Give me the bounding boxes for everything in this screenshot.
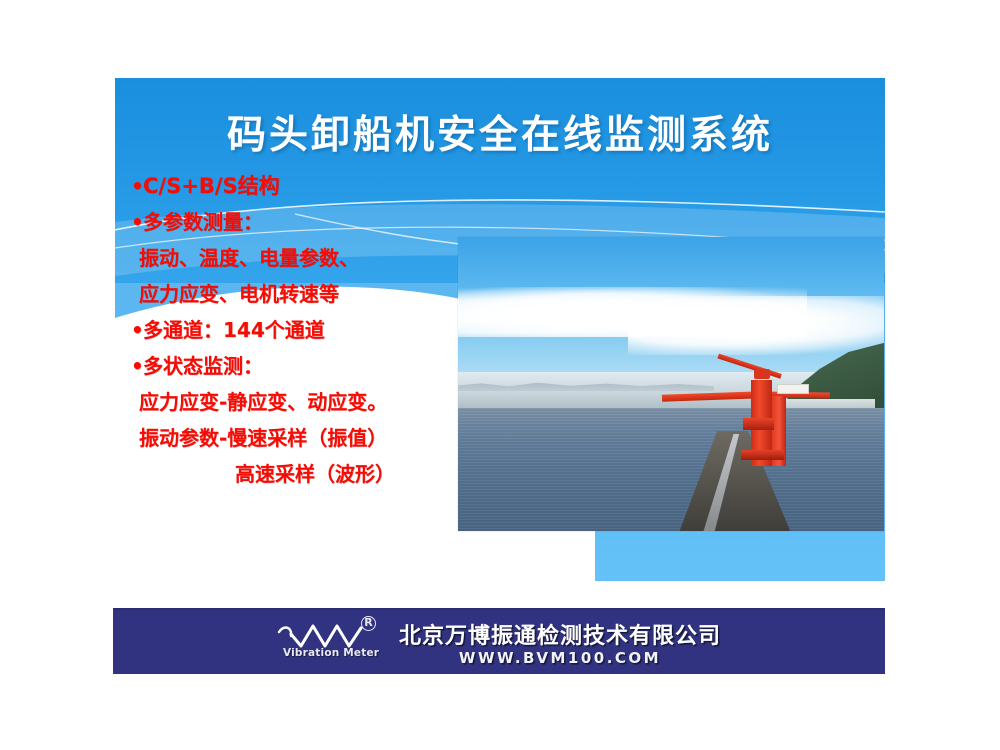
logo-subtitle: Vibration Meter (283, 647, 379, 659)
bullet-list: •C/S+B/S结构 •多参数测量： 振动、温度、电量参数、 应力应变、电机转速… (131, 168, 481, 492)
slide-canvas: 码头卸船机安全在线监测系统 •C/S+B/S结构 •多参数测量： 振动、温度、电… (0, 0, 1000, 750)
company-name-cn: 北京万博振通检测技术有限公司 (399, 618, 721, 650)
crane-name-plate (777, 384, 810, 394)
bullet-label: 多状态监测： (143, 354, 263, 378)
bullet-item-3: 应力应变、电机转速等 (131, 276, 481, 312)
bullet-label: 高速采样（波形） (235, 462, 395, 486)
crane-head (754, 369, 771, 379)
bullet-marker: • (131, 312, 143, 348)
crane-base (741, 450, 784, 460)
bullet-item-0: •C/S+B/S结构 (131, 168, 481, 204)
bullet-label: 多参数测量： (143, 210, 263, 234)
company-website[interactable]: WWW.BVM100.COM (459, 649, 661, 667)
bullet-marker: • (131, 348, 143, 384)
photo-clouds-right (628, 296, 884, 355)
bullet-item-6: 应力应变-静应变、动应变。 (131, 384, 481, 420)
bullet-label: 应力应变、电机转速等 (139, 282, 339, 306)
registered-trademark-icon: R (361, 616, 376, 631)
bullet-item-7: 振动参数-慢速采样（振值） (131, 420, 481, 456)
crane-cabin (743, 418, 774, 430)
bullet-item-2: 振动、温度、电量参数、 (131, 240, 481, 276)
vibration-meter-waveform-icon (277, 620, 373, 648)
content-panel: 码头卸船机安全在线监测系统 •C/S+B/S结构 •多参数测量： 振动、温度、电… (115, 78, 885, 581)
bullet-label: 振动、温度、电量参数、 (139, 246, 359, 270)
bullet-marker: • (131, 204, 143, 240)
bullet-label: 多通道：144个通道 (143, 318, 325, 342)
bullet-item-4: •多通道：144个通道 (131, 312, 481, 348)
footer-content: R Vibration Meter 北京万博振通检测技术有限公司 WWW.BVM… (113, 610, 885, 674)
slide-title: 码头卸船机安全在线监测系统 (115, 104, 885, 160)
bullet-label: C/S+B/S结构 (143, 174, 280, 198)
bullet-label: 振动参数-慢速采样（振值） (139, 426, 387, 450)
bullet-item-1: •多参数测量： (131, 204, 481, 240)
port-crane-photo (458, 237, 884, 531)
footer-bar: R Vibration Meter 北京万博振通检测技术有限公司 WWW.BVM… (113, 608, 885, 674)
bullet-label: 应力应变-静应变、动应变。 (139, 390, 387, 414)
footer-company-block: 北京万博振通检测技术有限公司 WWW.BVM100.COM (399, 618, 721, 667)
bullet-item-8: 高速采样（波形） (131, 456, 481, 492)
bullet-item-5: •多状态监测： (131, 348, 481, 384)
photo-ship-unloader-crane (705, 366, 833, 466)
company-logo: R Vibration Meter (277, 618, 385, 666)
bullet-marker: • (131, 168, 143, 204)
